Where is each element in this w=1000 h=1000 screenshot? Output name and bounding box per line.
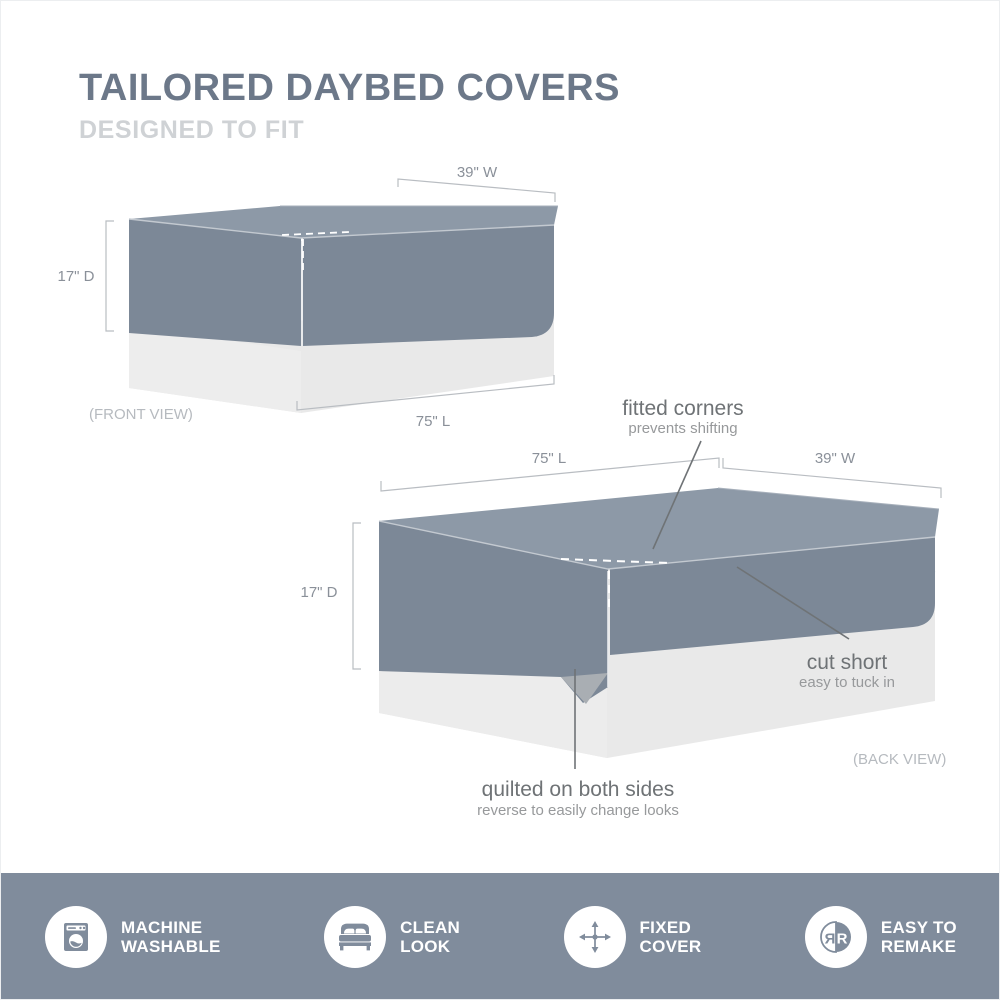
quilted-title: quilted on both sides <box>482 778 675 801</box>
back-depth-label: 17" D <box>300 584 337 601</box>
front-dimension-depth: 17" D <box>57 221 114 331</box>
cut-short-subtitle: easy to tuck in <box>799 674 895 691</box>
feature-machine-washable: MACHINE WASHABLE <box>45 906 221 968</box>
clean-look-badge <box>324 906 386 968</box>
feature-clean-look: CLEAN LOOK <box>324 906 460 968</box>
fixed-cover-badge <box>564 906 626 968</box>
quilted-subtitle: reverse to easily change looks <box>477 802 679 819</box>
front-length-label: 75" L <box>416 413 451 430</box>
easy-to-remake-badge: R R <box>805 906 867 968</box>
svg-text:R: R <box>824 931 835 948</box>
back-dimension-depth: 17" D <box>300 523 361 669</box>
back-width-label: 39" W <box>815 450 856 467</box>
front-view-label: (FRONT VIEW) <box>89 406 193 423</box>
feature-bar: MACHINE WASHABLE <box>1 873 1000 1000</box>
machine-washable-badge <box>45 906 107 968</box>
back-dimension-length: 75" L <box>381 450 719 491</box>
bed-icon <box>336 920 374 954</box>
back-view-label: (BACK VIEW) <box>853 751 946 768</box>
front-width-label: 39" W <box>457 164 498 181</box>
fixed-cover-label: FIXED COVER <box>640 918 702 956</box>
back-dimension-width: 39" W <box>723 450 941 498</box>
front-cover-right-panel <box>303 225 554 346</box>
four-way-arrows-icon <box>576 918 614 956</box>
reversible-r-icon: R R <box>817 918 855 956</box>
front-view-diagram: 39" W 17" D 75" L (FRONT VIEW) <box>57 164 558 430</box>
fitted-corners-subtitle: prevents shifting <box>628 420 737 437</box>
fitted-corners-title: fitted corners <box>622 397 743 420</box>
back-view-diagram: 75" L 39" W 17" D (BACK VIEW) <box>300 450 946 768</box>
back-length-label: 75" L <box>532 450 567 467</box>
easy-to-remake-label: EASY TO REMAKE <box>881 918 957 956</box>
front-depth-label: 17" D <box>57 268 94 285</box>
clean-look-label: CLEAN LOOK <box>400 918 460 956</box>
feature-easy-to-remake: R R EASY TO REMAKE <box>805 906 957 968</box>
front-cover-left-panel <box>129 219 301 346</box>
machine-washable-label: MACHINE WASHABLE <box>121 918 221 956</box>
cut-short-title: cut short <box>807 651 888 674</box>
diagram-stage: 39" W 17" D 75" L (FRONT VIEW) <box>1 1 1000 873</box>
washing-machine-icon <box>58 919 94 955</box>
front-dimension-width: 39" W <box>398 164 555 202</box>
infographic-page: TAILORED DAYBED COVERS DESIGNED TO FIT <box>0 0 1000 1000</box>
svg-text:R: R <box>836 931 847 948</box>
feature-fixed-cover: FIXED COVER <box>564 906 702 968</box>
